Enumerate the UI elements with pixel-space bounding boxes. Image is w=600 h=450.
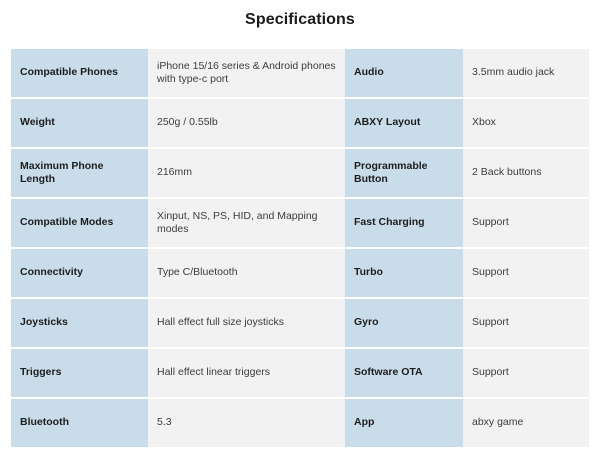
spec-value-text: abxy game [472,416,580,430]
table-row: Maximum Phone Length 216mm Programmable … [11,149,589,197]
spec-value-text: 5.3 [157,416,336,430]
spec-label-text: Turbo [354,266,454,280]
spec-value-compatible-modes: Xinput, NS, PS, HID, and Mapping modes [148,199,345,247]
spec-label-compatible-modes: Compatible Modes [11,199,148,247]
spec-value-text: 216mm [157,166,336,180]
spec-label-maximum-phone-length: Maximum Phone Length [11,149,148,197]
spec-label-triggers: Triggers [11,349,148,397]
spec-label-turbo: Turbo [345,249,463,297]
spec-value-compatible-phones: iPhone 15/16 series & Android phones wit… [148,49,345,97]
spec-value-text: Xbox [472,116,580,130]
spec-value-text: Support [472,366,580,380]
spec-value-text: Support [472,266,580,280]
spec-value-maximum-phone-length: 216mm [148,149,345,197]
spec-value-text: 3.5mm audio jack [472,66,580,80]
spec-value-text: 2 Back buttons [472,166,580,180]
spec-label-gyro: Gyro [345,299,463,347]
spec-label-text: Triggers [20,366,139,380]
spec-value-joysticks: Hall effect full size joysticks [148,299,345,347]
spec-value-text: Hall effect full size joysticks [157,316,336,330]
table-row: Bluetooth 5.3 App abxy game [11,399,589,447]
table-row: Compatible Phones iPhone 15/16 series & … [11,49,589,97]
spec-value-text: Type C/Bluetooth [157,266,336,280]
spec-value-programmable-button: 2 Back buttons [463,149,589,197]
spec-value-text: Xinput, NS, PS, HID, and Mapping modes [157,210,336,237]
spec-label-abxy-layout: ABXY Layout [345,99,463,147]
spec-value-software-ota: Support [463,349,589,397]
spec-label-text: Weight [20,116,139,130]
spec-value-fast-charging: Support [463,199,589,247]
spec-value-text: Hall effect linear triggers [157,366,336,380]
spec-label-text: Software OTA [354,366,454,380]
spec-value-gyro: Support [463,299,589,347]
spec-label-software-ota: Software OTA [345,349,463,397]
spec-label-connectivity: Connectivity [11,249,148,297]
table-row: Connectivity Type C/Bluetooth Turbo Supp… [11,249,589,297]
spec-label-text: Bluetooth [20,416,139,430]
table-row: Weight 250g / 0.55lb ABXY Layout Xbox [11,99,589,147]
spec-label-programmable-button: Programmable Button [345,149,463,197]
spec-value-connectivity: Type C/Bluetooth [148,249,345,297]
spec-value-text: Support [472,216,580,230]
spec-label-compatible-phones: Compatible Phones [11,49,148,97]
spec-label-bluetooth: Bluetooth [11,399,148,447]
table-row: Compatible Modes Xinput, NS, PS, HID, an… [11,199,589,247]
spec-value-audio: 3.5mm audio jack [463,49,589,97]
spec-label-app: App [345,399,463,447]
spec-label-weight: Weight [11,99,148,147]
spec-label-text: App [354,416,454,430]
specifications-table-body: Compatible Phones iPhone 15/16 series & … [11,49,589,447]
specifications-table: Compatible Phones iPhone 15/16 series & … [11,47,589,449]
spec-label-text: Audio [354,66,454,80]
spec-value-text: 250g / 0.55lb [157,116,336,130]
spec-value-weight: 250g / 0.55lb [148,99,345,147]
spec-label-text: Maximum Phone Length [20,160,139,187]
spec-label-fast-charging: Fast Charging [345,199,463,247]
spec-label-text: Compatible Modes [20,216,139,230]
spec-value-turbo: Support [463,249,589,297]
spec-value-triggers: Hall effect linear triggers [148,349,345,397]
spec-label-joysticks: Joysticks [11,299,148,347]
specifications-page: Specifications Compatible Phones iPhone … [0,0,600,450]
spec-value-bluetooth: 5.3 [148,399,345,447]
spec-label-text: Joysticks [20,316,139,330]
spec-label-text: Connectivity [20,266,139,280]
spec-label-text: ABXY Layout [354,116,454,130]
spec-value-abxy-layout: Xbox [463,99,589,147]
spec-label-audio: Audio [345,49,463,97]
spec-label-text: Programmable Button [354,160,454,187]
spec-label-text: Fast Charging [354,216,454,230]
spec-value-text: iPhone 15/16 series & Android phones wit… [157,60,336,87]
spec-label-text: Compatible Phones [20,66,139,80]
spec-value-app: abxy game [463,399,589,447]
table-row: Triggers Hall effect linear triggers Sof… [11,349,589,397]
table-row: Joysticks Hall effect full size joystick… [11,299,589,347]
spec-value-text: Support [472,316,580,330]
spec-label-text: Gyro [354,316,454,330]
page-title: Specifications [0,9,600,31]
